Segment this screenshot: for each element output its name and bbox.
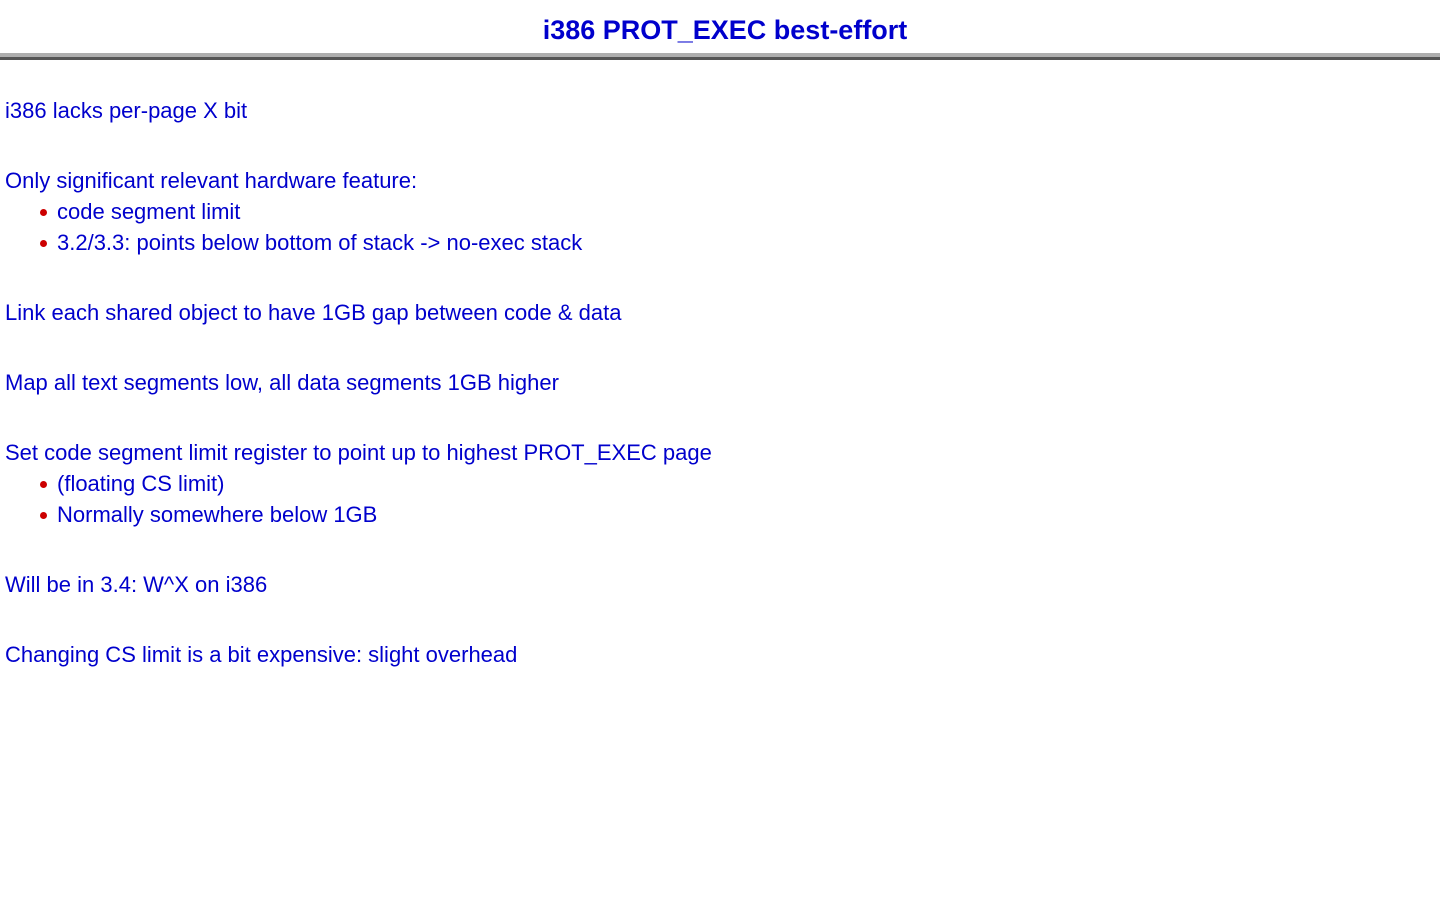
slide-body: i386 lacks per-page X bitOnly significan…	[0, 96, 1440, 670]
outline-bullet-item: code segment limit	[0, 196, 1440, 227]
block-spacer	[0, 398, 1440, 438]
block-spacer	[0, 530, 1440, 570]
outline-heading: i386 lacks per-page X bit	[0, 96, 1440, 126]
outline-bullet-item: 3.2/3.3: points below bottom of stack ->…	[0, 227, 1440, 258]
outline-heading: Changing CS limit is a bit expensive: sl…	[0, 640, 1440, 670]
outline-heading: Set code segment limit register to point…	[0, 438, 1440, 468]
page-title: i386 PROT_EXEC best-effort	[0, 14, 1440, 46]
bullet-dot-icon	[40, 209, 47, 216]
outline-bullet-label: 3.2/3.3: points below bottom of stack ->…	[57, 230, 582, 255]
block-spacer	[0, 258, 1440, 298]
outline-heading: Link each shared object to have 1GB gap …	[0, 298, 1440, 328]
outline-heading: Map all text segments low, all data segm…	[0, 368, 1440, 398]
outline-heading: Will be in 3.4: W^X on i386	[0, 570, 1440, 600]
outline-bullet-item: Normally somewhere below 1GB	[0, 499, 1440, 530]
outline-heading: Only significant relevant hardware featu…	[0, 166, 1440, 196]
title-divider	[0, 53, 1440, 60]
bullet-dot-icon	[40, 481, 47, 488]
block-spacer	[0, 328, 1440, 368]
divider-dark-band	[0, 57, 1440, 60]
outline-bullet-label: code segment limit	[57, 199, 240, 224]
outline-bullet-label: (floating CS limit)	[57, 471, 224, 496]
bullet-dot-icon	[40, 240, 47, 247]
block-spacer	[0, 126, 1440, 166]
outline-bullet-label: Normally somewhere below 1GB	[57, 502, 377, 527]
block-spacer	[0, 600, 1440, 640]
bullet-dot-icon	[40, 512, 47, 519]
slide-page: { "slide": { "title": "i386 PROT_EXEC be…	[0, 0, 1440, 900]
outline-bullet-item: (floating CS limit)	[0, 468, 1440, 499]
